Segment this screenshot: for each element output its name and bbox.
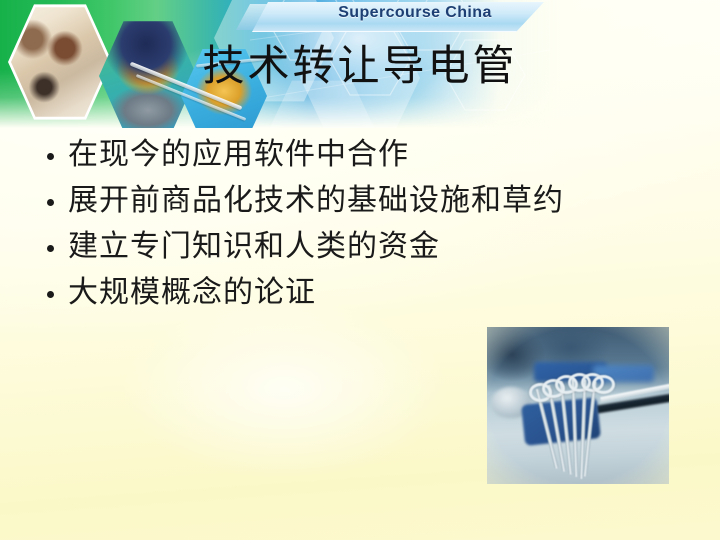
bullet-list: 在现今的应用软件中合作 展开前商品化技术的基础设施和草约 建立专门知识和人类的资… xyxy=(38,132,678,316)
background-highlight xyxy=(120,300,450,480)
list-item: 建立专门知识和人类的资金 xyxy=(38,224,678,270)
page-title: 技术转让导电管 xyxy=(0,42,720,90)
surgical-instruments-photo xyxy=(487,327,669,484)
brand-label: Supercourse China xyxy=(300,4,530,22)
list-item: 在现今的应用软件中合作 xyxy=(38,132,678,178)
slide: Supercourse China 技术转让导电管 在现今的应用软件中合作 展开… xyxy=(0,0,720,540)
instrument-ring xyxy=(592,375,615,394)
list-item: 展开前商品化技术的基础设施和草约 xyxy=(38,178,678,224)
list-item: 大规模概念的论证 xyxy=(38,270,678,316)
